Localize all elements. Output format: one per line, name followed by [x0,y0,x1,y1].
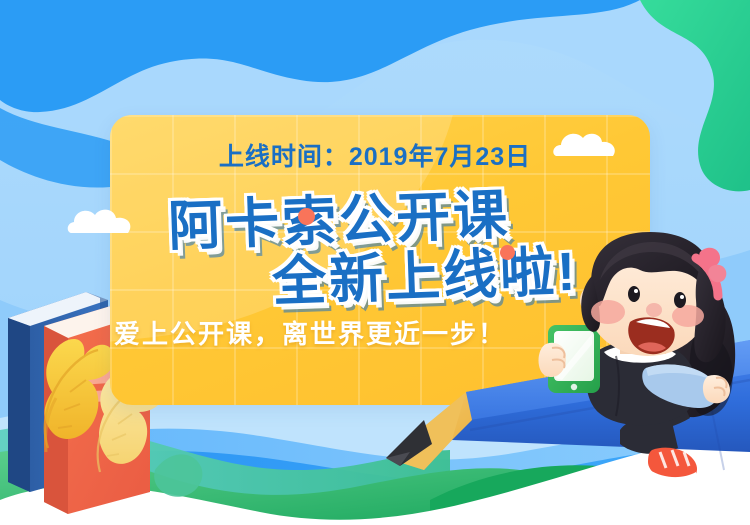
girl-on-pencil-illustration [0,0,750,525]
promo-banner: 上线时间：2019年7月23日 阿卡索公开课 全新上线啦! 爱上公开课，离世界更… [0,0,750,525]
